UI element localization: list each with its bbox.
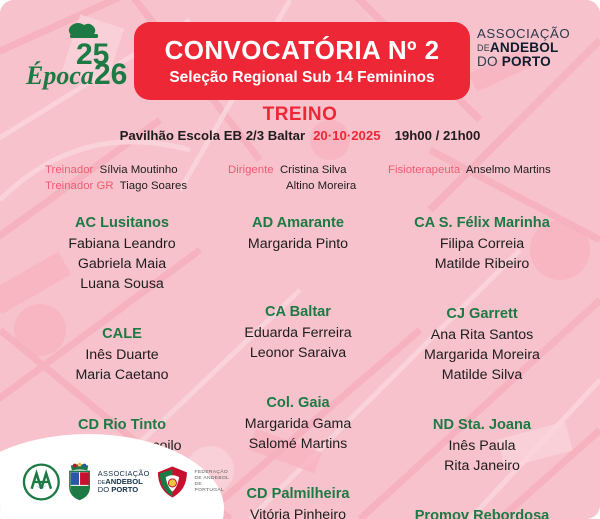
banner-subtitle: Seleção Regional Sub 14 Femininos <box>169 70 434 86</box>
staff-group-dirigente: Dirigente Cristina Silva Altino Moreira <box>228 163 356 194</box>
player-name: Rita Janeiro <box>382 456 582 476</box>
player-name: Margarida Moreira <box>382 345 582 365</box>
player-name: Matilde Ribeiro <box>382 254 582 274</box>
footer-association-wordmark: ASSOCIAÇÃO DEANDEBOL DO PORTO <box>98 470 150 494</box>
club-block: CALE Inês Duarte Maria Caetano <box>32 324 212 385</box>
club-name: CALE <box>32 324 212 344</box>
event-date: 20·10·2025 <box>313 128 380 143</box>
club-block: CD Palmilheira Vitória Pinheiro Mia Ferr… <box>218 484 378 519</box>
player-name: Ana Rita Santos <box>382 325 582 345</box>
club-name: Col. Gaia <box>218 393 378 413</box>
staff-row: Treinador Sílvia Moutinho Treinador GR T… <box>0 163 600 203</box>
staff-line: Treinador GR Tiago Soares <box>45 179 187 195</box>
event-hours: 19h00 / 21h00 <box>395 128 481 143</box>
club-block: ND Sta. Joana Inês Paula Rita Janeiro <box>382 415 582 476</box>
wordmark-do: DO <box>477 54 498 69</box>
player-name: Leonor Saraiva <box>218 343 378 363</box>
club-block: CA S. Félix Marinha Filipa Correia Matil… <box>382 213 582 274</box>
club-block: AD Amarante Margarida Pinto <box>218 213 378 254</box>
federation-line-1: FEDERAÇÃO <box>194 470 232 476</box>
club-name: AC Lusitanos <box>32 213 212 233</box>
club-block: CA Baltar Eduarda Ferreira Leonor Saraiv… <box>218 302 378 363</box>
title-banner: CONVOCATÓRIA Nº 2 Seleção Regional Sub 1… <box>134 22 470 100</box>
club-block: Promov Rebordosa Bianca Barbosa Matilde … <box>382 506 582 519</box>
club-name: CA S. Félix Marinha <box>382 213 582 233</box>
player-name: Gabriela Maia <box>32 254 212 274</box>
club-name: CA Baltar <box>218 302 378 322</box>
club-name: CD Palmilheira <box>218 484 378 504</box>
staff-role: Fisioterapeuta <box>388 164 460 176</box>
player-name: Inês Paula <box>382 436 582 456</box>
footer-andebol: ANDEBOL <box>105 477 143 486</box>
wordmark-de: DE <box>477 43 490 53</box>
player-name: Luana Sousa <box>32 274 212 294</box>
player-name: Fabiana Leandro <box>32 234 212 254</box>
federation-line-3: DE PORTUGAL <box>194 482 232 494</box>
federacao-andebol-portugal-icon <box>156 464 189 500</box>
event-details-row: Pavilhão Escola EB 2/3 Baltar20·10·20251… <box>0 128 600 143</box>
staff-line: Fisioterapeuta Anselmo Martins <box>388 163 551 179</box>
player-name: Maria Caetano <box>32 365 212 385</box>
footer-logos: ASSOCIAÇÃO DEANDEBOL DO PORTO FEDERAÇÃO … <box>22 459 232 505</box>
staff-group-fisioterapeuta: Fisioterapeuta Anselmo Martins <box>388 163 551 179</box>
club-column-2: AD Amarante Margarida Pinto CA Baltar Ed… <box>218 213 378 519</box>
player-name: Margarida Gama <box>218 414 378 434</box>
player-name: Vitória Pinheiro <box>218 505 378 519</box>
wordmark-porto: PORTO <box>502 54 551 69</box>
player-name: Inês Duarte <box>32 345 212 365</box>
staff-name: Altino Moreira <box>286 180 356 192</box>
convocatoria-poster: 25 Época 26 CONVOCATÓRIA Nº 2 Seleção Re… <box>0 0 600 519</box>
wordmark-line-associacao: ASSOCIAÇÃO <box>477 27 587 41</box>
staff-role: Dirigente <box>228 164 274 176</box>
club-name: Promov Rebordosa <box>382 506 582 519</box>
epoca-season-logo: 25 Época 26 <box>24 22 134 96</box>
event-type: TREINO <box>0 104 600 126</box>
staff-name: Tiago Soares <box>120 180 187 192</box>
epoca-word: Época <box>25 61 94 90</box>
epoca-year-right: 26 <box>94 58 127 91</box>
club-column-3: CA S. Félix Marinha Filipa Correia Matil… <box>382 213 582 519</box>
poster-header: 25 Época 26 CONVOCATÓRIA Nº 2 Seleção Re… <box>0 0 600 105</box>
staff-line: Treinador Sílvia Moutinho <box>45 163 187 179</box>
player-name: Matilde Silva <box>382 365 582 385</box>
wordmark-line-porto: DO PORTO <box>477 55 587 69</box>
staff-line: Dirigente Cristina Silva <box>228 163 356 179</box>
association-wordmark: ASSOCIAÇÃO DEANDEBOL DO PORTO <box>477 27 587 71</box>
player-name: Margarida Pinto <box>218 234 378 254</box>
player-name: Eduarda Ferreira <box>218 323 378 343</box>
footer-porto: PORTO <box>111 485 138 494</box>
club-name: AD Amarante <box>218 213 378 233</box>
event-venue: Pavilhão Escola EB 2/3 Baltar <box>120 128 305 143</box>
banner-title: CONVOCATÓRIA Nº 2 <box>165 37 440 63</box>
porto-crest-icon <box>67 462 92 502</box>
wordmark-line-andebol: DEANDEBOL <box>477 41 587 55</box>
club-block: CJ Garrett Ana Rita Santos Margarida Mor… <box>382 304 582 385</box>
club-block: AC Lusitanos Fabiana Leandro Gabriela Ma… <box>32 213 212 294</box>
footer-federation-wordmark: FEDERAÇÃO DE ANDEBOL DE PORTUGAL <box>194 470 232 495</box>
club-name: CD Rio Tinto <box>32 415 212 435</box>
footer-do: DO <box>98 485 109 494</box>
player-name: Filipa Correia <box>382 234 582 254</box>
staff-role: Treinador <box>45 164 93 176</box>
staff-group-coaches: Treinador Sílvia Moutinho Treinador GR T… <box>45 163 187 194</box>
club-block: Col. Gaia Margarida Gama Salomé Martins <box>218 393 378 454</box>
footer-line-porto: DO PORTO <box>98 486 150 494</box>
staff-name: Sílvia Moutinho <box>100 164 178 176</box>
wordmark-andebol: ANDEBOL <box>490 40 559 55</box>
staff-name: Cristina Silva <box>280 164 346 176</box>
staff-line: Altino Moreira <box>228 179 356 195</box>
club-name: CJ Garrett <box>382 304 582 324</box>
player-name: Salomé Martins <box>218 434 378 454</box>
staff-name: Anselmo Martins <box>466 164 551 176</box>
aap-monogram-icon <box>22 462 61 502</box>
club-name: ND Sta. Joana <box>382 415 582 435</box>
staff-role: Treinador GR <box>45 180 114 192</box>
